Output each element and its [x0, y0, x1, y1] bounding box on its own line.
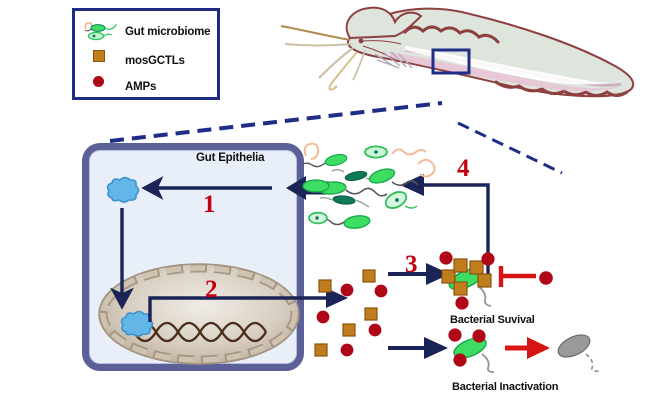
- gut-microbiome-swarm: [300, 138, 470, 243]
- figure-canvas: Gut microbiome mosGCTLs AMPs Gut Epithel…: [0, 0, 650, 400]
- secreted-molecules-scatter: [305, 262, 425, 362]
- arrow-step-2-path: [150, 298, 330, 322]
- bacterial-inactivation-complex: [446, 328, 516, 374]
- bacterial-survival-label: Bacterial Suvival: [450, 314, 535, 326]
- dead-bacterium: [552, 330, 628, 374]
- blocked-amp-circle: [534, 266, 558, 290]
- bacterial-survival-complex: [432, 252, 514, 310]
- step-number-1: 1: [203, 192, 216, 217]
- step-number-2: 2: [205, 277, 218, 302]
- bacterial-inactivation-label: Bacterial Inactivation: [452, 381, 558, 393]
